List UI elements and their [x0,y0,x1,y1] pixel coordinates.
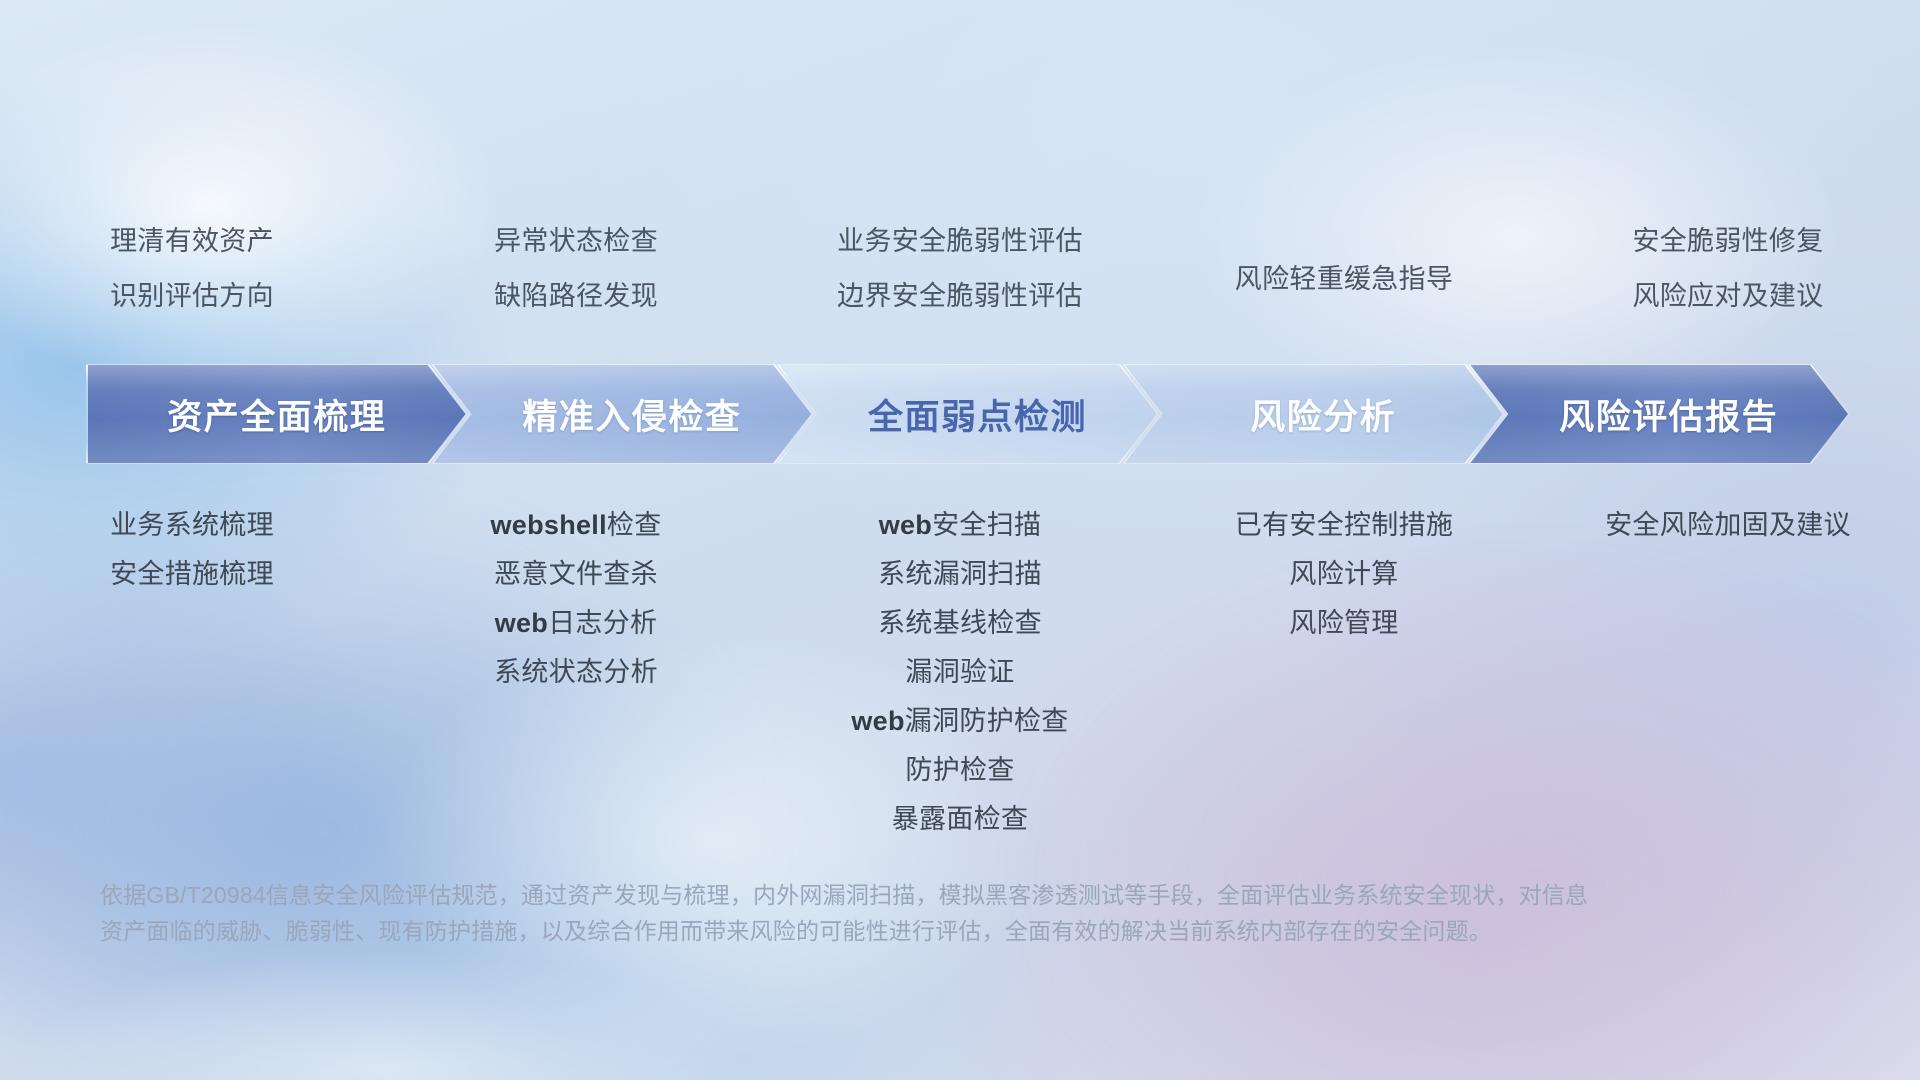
top-notes-col-intrusion-check: 异常状态检查缺陷路径发现 [384,228,768,310]
stage-detail-lists-row: 业务系统梳理安全措施梳理webshell检查恶意文件查杀web日志分析系统状态分… [0,512,1920,833]
detail-list-item: web日志分析 [495,610,658,637]
detail-item-keyword: webshell [490,510,606,540]
slide-canvas: 理清有效资产识别评估方向异常状态检查缺陷路径发现业务安全脆弱性评估边界安全脆弱性… [0,0,1920,1080]
detail-list-item: 暴露面检查 [892,806,1029,833]
detail-list-item: 恶意文件查杀 [494,561,658,588]
detail-item-text: 安全扫描 [932,510,1041,540]
top-notes-col-weakness-detection: 业务安全脆弱性评估边界安全脆弱性评估 [768,228,1152,310]
detail-list-intrusion-check: webshell检查恶意文件查杀web日志分析系统状态分析 [384,512,768,833]
detail-list-assessment-report: 安全风险加固及建议 [1536,512,1920,833]
chevron-label: 全面弱点检测 [868,389,1087,440]
detail-list-risk-analysis: 已有安全控制措施风险计算风险管理 [1152,512,1536,833]
detail-item-keyword: web [851,706,904,736]
detail-list-item: webshell检查 [490,512,661,539]
detail-item-keyword: web [879,510,932,540]
detail-item-text: 检查 [607,510,662,540]
top-note: 风险应对及建议 [1632,283,1823,310]
detail-list-item: 风险管理 [1289,610,1398,637]
top-notes-col-risk-analysis: 风险轻重缓急指导 [1152,228,1536,310]
chevron-label: 精准入侵检查 [522,389,741,440]
detail-list-item: 系统漏洞扫描 [878,561,1042,588]
detail-list-item: 系统状态分析 [494,659,658,686]
detail-list-item: 业务系统梳理 [110,512,274,539]
detail-list-item: web漏洞防护检查 [851,708,1068,735]
detail-item-keyword: web [495,608,548,638]
top-notes-row: 理清有效资产识别评估方向异常状态检查缺陷路径发现业务安全脆弱性评估边界安全脆弱性… [0,228,1920,310]
detail-list-item: 系统基线检查 [878,610,1042,637]
detail-item-text: 漏洞防护检查 [905,706,1069,736]
top-note: 理清有效资产 [110,228,274,255]
detail-list-asset-inventory: 业务系统梳理安全措施梳理 [0,512,384,833]
detail-list-item: 风险计算 [1289,561,1398,588]
chevron-label: 资产全面梳理 [167,389,386,440]
detail-list-item: 防护检查 [905,757,1014,784]
chevron-weakness-detection[interactable]: 全面弱点检测 [779,365,1157,463]
top-note: 业务安全脆弱性评估 [837,228,1083,255]
detail-list-item: 已有安全控制措施 [1235,512,1453,539]
top-notes-col-asset-inventory: 理清有效资产识别评估方向 [0,228,384,310]
detail-list-item: 安全措施梳理 [110,561,274,588]
footer-line-1: 依据GB/T20984信息安全风险评估规范，通过资产发现与梳理，内外网漏洞扫描，… [100,878,1640,914]
detail-item-text: 日志分析 [548,608,657,638]
chevron-risk-analysis[interactable]: 风险分析 [1125,365,1503,463]
detail-list-item: web安全扫描 [879,512,1042,539]
top-note: 边界安全脆弱性评估 [837,283,1083,310]
top-notes-col-assessment-report: 安全脆弱性修复风险应对及建议 [1536,228,1920,310]
chevron-intrusion-check[interactable]: 精准入侵检查 [434,365,812,463]
top-note: 安全脆弱性修复 [1632,228,1823,255]
top-note: 风险轻重缓急指导 [1235,266,1453,293]
top-note: 缺陷路径发现 [494,283,658,310]
footer-description: 依据GB/T20984信息安全风险评估规范，通过资产发现与梳理，内外网漏洞扫描，… [100,878,1640,949]
top-note: 识别评估方向 [110,283,274,310]
slide-content: 理清有效资产识别评估方向异常状态检查缺陷路径发现业务安全脆弱性评估边界安全脆弱性… [0,0,1920,1080]
detail-list-weakness-detection: web安全扫描系统漏洞扫描系统基线检查漏洞验证web漏洞防护检查防护检查暴露面检… [768,512,1152,833]
footer-line-2: 资产面临的威胁、脆弱性、现有防护措施，以及综合作用而带来风险的可能性进行评估，全… [100,914,1640,950]
detail-list-item: 安全风险加固及建议 [1605,512,1851,539]
chevron-assessment-report[interactable]: 风险评估报告 [1470,365,1848,463]
detail-list-item: 漏洞验证 [905,659,1014,686]
process-chevron-banner: 资产全面梳理精准入侵检查全面弱点检测风险分析风险评估报告 [88,365,1848,463]
chevron-label: 风险评估报告 [1559,389,1778,440]
chevron-asset-inventory[interactable]: 资产全面梳理 [88,365,466,463]
chevron-label: 风险分析 [1250,389,1396,440]
top-note: 异常状态检查 [494,228,658,255]
